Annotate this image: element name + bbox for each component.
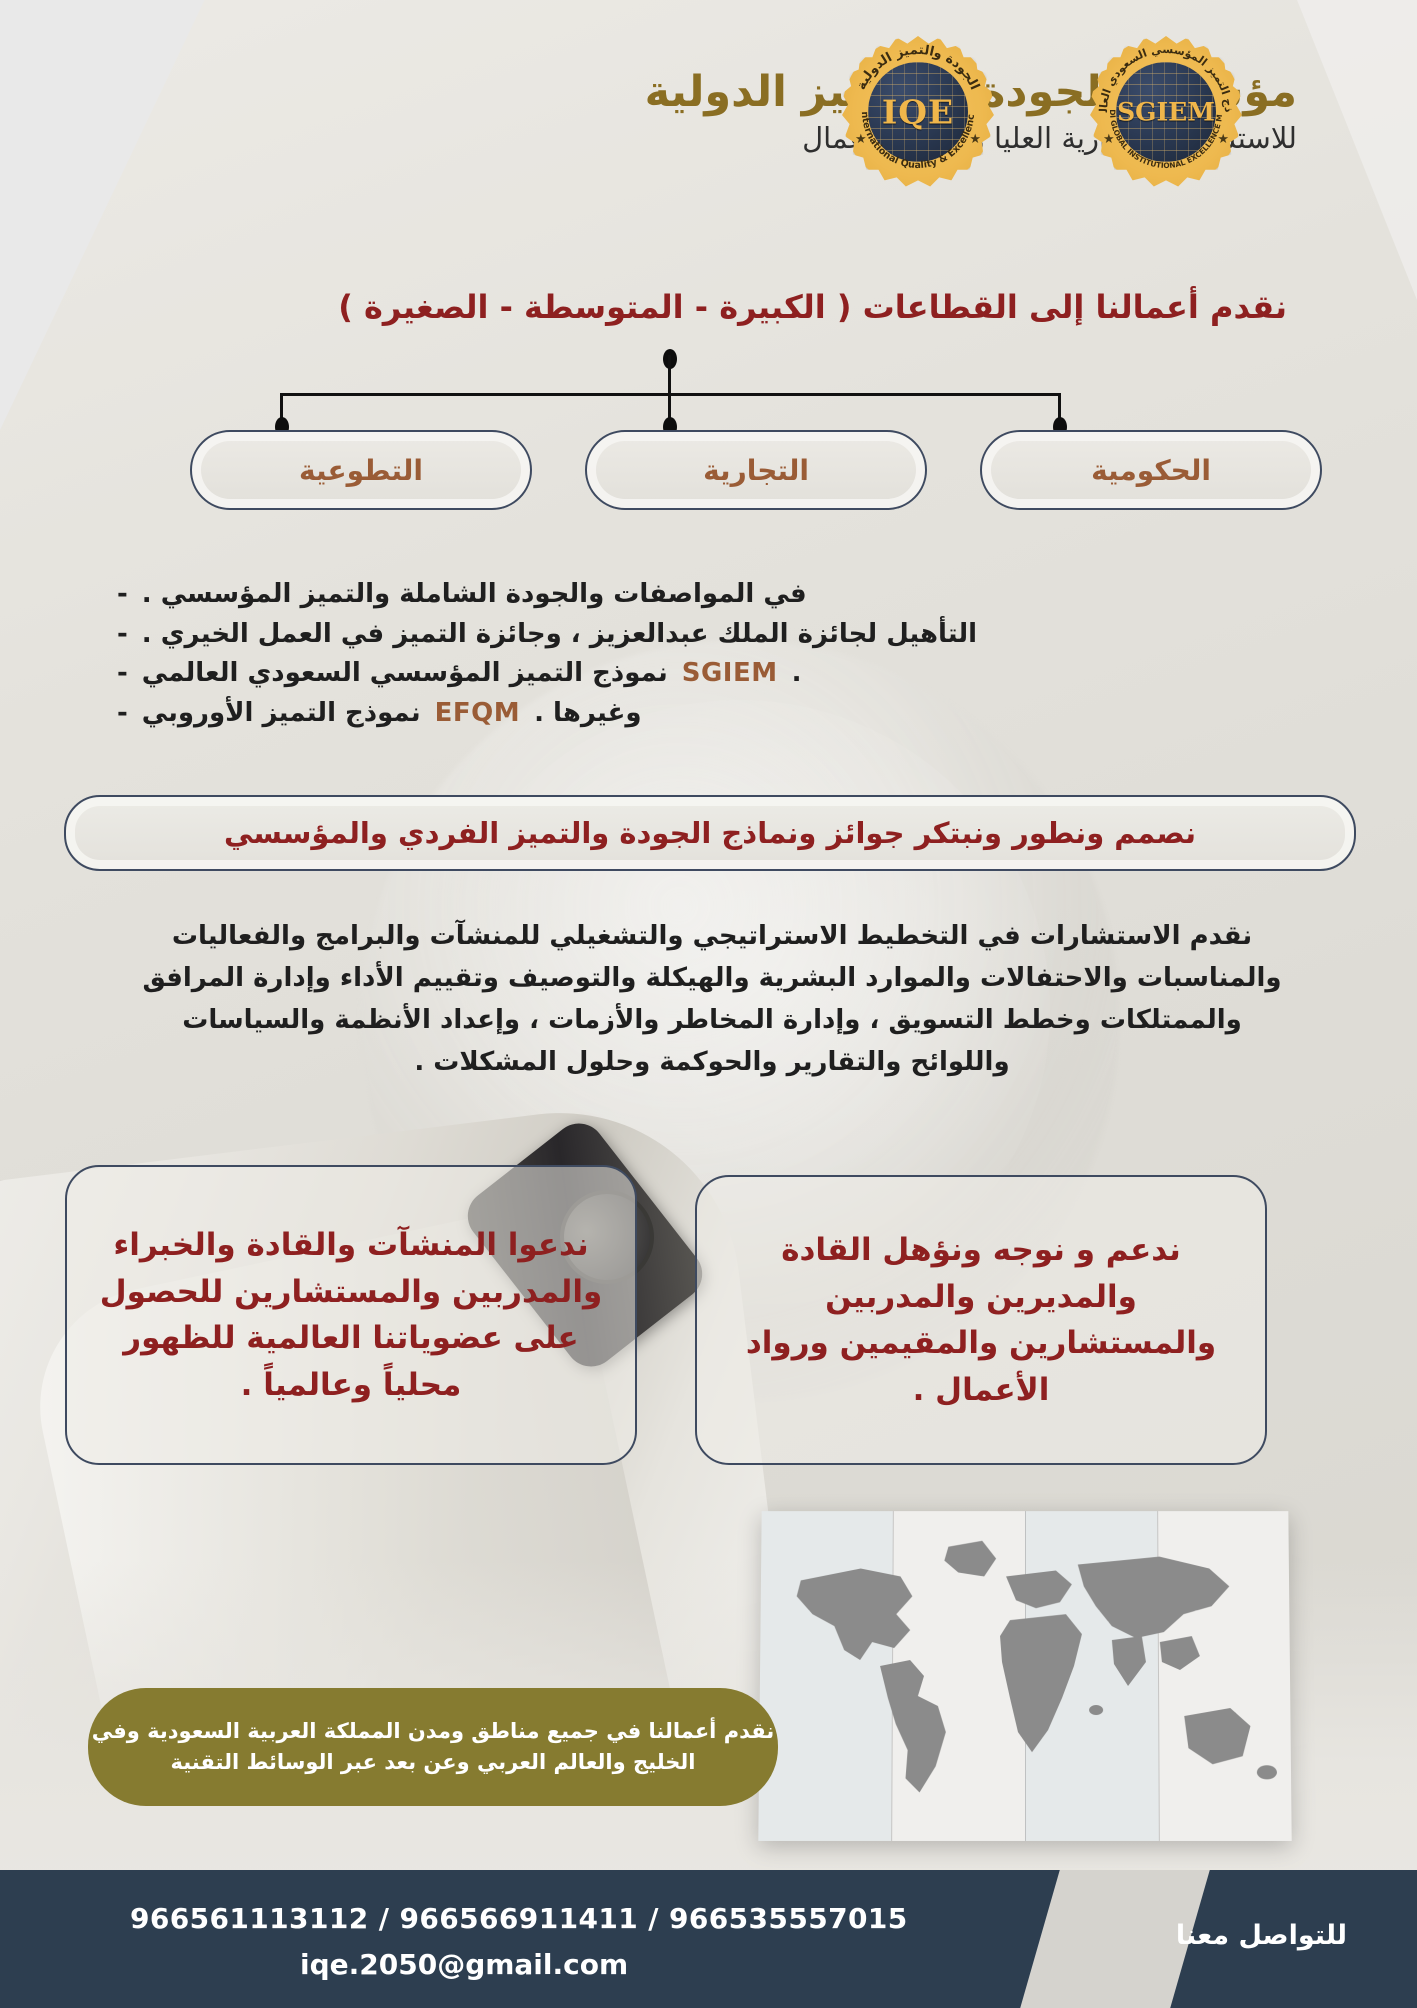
bullet-text: في المواصفات والجودة الشاملة والتميز الم… [142,575,807,615]
contact-label: للتواصل معنا [1176,1920,1347,1951]
bullet-dash: - [117,654,128,694]
bullet-text-tail: وغيرها . [534,694,641,734]
coverage-bar: نقدم أعمالنا في جميع مناطق ومدن المملكة … [88,1688,778,1806]
iqe-logo: IQE الجودة والتميز الدولية International… [842,36,994,188]
bullet-item: - نموذج التميز الأوروبي EFQM وغيرها . [117,694,1297,734]
callout-qualification-text: ندعم و نوجه ونؤهل القادة والمديرين والمد… [723,1227,1239,1413]
bullet-dash: - [117,615,128,655]
sector-label-volunteer: التطوعية [299,454,423,487]
callout-memberships: ندعوا المنشآت والقادة والخبراء والمدربين… [65,1165,637,1465]
world-map-icon [758,1511,1291,1841]
svg-text:SAUDI GLOBAL INSTITUTIONAL EXC: SAUDI GLOBAL INSTITUTIONAL EXCELLENCE MO… [1090,36,1224,170]
bullet-text: نموذج التميز الأوروبي [142,694,421,734]
poster-footer: للتواصل معنا 966561113112 / 966566911411… [0,1870,1417,2008]
svg-text:International Quality & Excell: International Quality & Excellence [842,36,977,171]
tagline-text: نصمم ونطور ونبتكر جوائز ونماذج الجودة وا… [224,816,1196,850]
sector-pill-government[interactable]: الحكومية [980,430,1322,510]
poster-header: مؤسسة الجودة و التميز الدولية للاستشارات… [0,0,1417,230]
bullet-model-efqm: EFQM [435,694,521,734]
bullet-item: - في المواصفات والجودة الشاملة والتميز ا… [117,575,1297,615]
sectors-title: نقدم أعمالنا إلى القطاعات ( الكبيرة - ال… [338,288,1287,326]
services-bullet-list: - في المواصفات والجودة الشاملة والتميز ا… [117,575,1297,733]
iqe-star-right-icon: ★ [969,132,981,147]
callout-qualification: ندعم و نوجه ونؤهل القادة والمديرين والمد… [695,1175,1267,1465]
world-map-card [758,1511,1291,1841]
bullet-text-tail: . [792,654,802,694]
sector-label-commercial: التجارية [703,454,809,487]
contact-email[interactable]: iqe.2050@gmail.com [300,1948,628,1981]
sgiem-star-right-icon: ★ [1217,132,1229,147]
sectors-connector-diagram [0,355,1417,425]
sector-label-government: الحكومية [1091,454,1211,487]
sector-pills: التطوعية التجارية الحكومية [0,430,1417,510]
sgiem-logo: SGIEM نموذج التميز المؤسسي السعودي العال… [1090,36,1242,188]
tagline-banner: نصمم ونطور ونبتكر جوائز ونماذج الجودة وا… [64,795,1356,871]
bullet-dash: - [117,694,128,734]
sector-pill-commercial[interactable]: التجارية [585,430,927,510]
sgiem-latin-arc: SAUDI GLOBAL INSTITUTIONAL EXCELLENCE MO… [1090,36,1242,188]
sector-pill-volunteer[interactable]: التطوعية [190,430,532,510]
bullet-model-sgiem: SGIEM [682,654,778,694]
bullet-dash: - [117,575,128,615]
services-paragraph: نقدم الاستشارات في التخطيط الاستراتيجي و… [137,915,1287,1083]
bullet-item: - التأهيل لجائزة الملك عبدالعزيز ، وجائز… [117,615,1297,655]
sgiem-star-left-icon: ★ [1103,132,1115,147]
coverage-text: نقدم أعمالنا في جميع مناطق ومدن المملكة … [88,1716,778,1779]
callout-memberships-text: ندعوا المنشآت والقادة والخبراء والمدربين… [93,1222,609,1408]
bullet-item: - نموذج التميز المؤسسي السعودي العالمي S… [117,654,1297,694]
iqe-star-left-icon: ★ [855,132,867,147]
connector-stem [668,355,671,395]
contact-phones[interactable]: 966561113112 / 966566911411 / 9665355570… [130,1902,908,1935]
bullet-text: نموذج التميز المؤسسي السعودي العالمي [142,654,668,694]
poster-page: مؤسسة الجودة و التميز الدولية للاستشارات… [0,0,1417,2008]
bullet-text: التأهيل لجائزة الملك عبدالعزيز ، وجائزة … [142,615,977,655]
iqe-latin-arc: International Quality & Excellence [842,36,994,188]
